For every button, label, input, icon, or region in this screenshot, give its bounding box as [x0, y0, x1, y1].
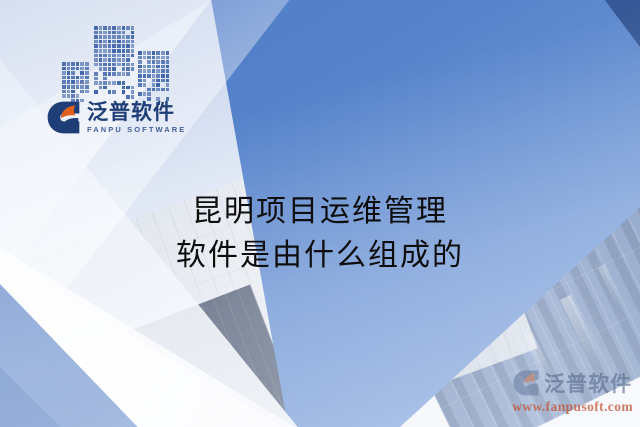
skyline-pixel [108, 54, 112, 58]
skyline-pixel [166, 65, 170, 69]
skyline-pixel [103, 67, 107, 71]
skyline-pixel [62, 62, 66, 66]
skyline-pixel [117, 72, 121, 76]
skyline-pixel [71, 85, 75, 89]
skyline-pixel [143, 56, 147, 60]
skyline-pixel [108, 67, 112, 71]
skyline-pixel [99, 58, 103, 62]
skyline-pixel [94, 63, 98, 67]
skyline-pixel [147, 74, 151, 78]
skyline-pixel [99, 44, 103, 48]
skyline-pixel [131, 35, 135, 39]
skyline-pixel [103, 72, 107, 76]
skyline-pixel [85, 71, 89, 75]
pixel-skyline-icon [62, 24, 172, 108]
skyline-pixel [122, 58, 126, 62]
skyline-pixel [108, 58, 112, 62]
skyline-pixel [122, 26, 126, 30]
skyline-pixel [103, 35, 107, 39]
skyline-pixel [156, 74, 160, 78]
skyline-pixel [138, 51, 142, 55]
skyline-pixel [108, 72, 112, 76]
skyline-pixel [152, 60, 156, 64]
skyline-pixel [62, 67, 66, 71]
skyline-pixel [138, 83, 142, 87]
skyline-pixel [166, 60, 170, 64]
skyline-pixel [156, 83, 160, 87]
skyline-pixel [166, 69, 170, 73]
skyline-pixel [138, 74, 142, 78]
skyline-pixel [161, 88, 165, 92]
skyline-pixel [67, 94, 71, 98]
skyline-pixel [99, 26, 103, 30]
skyline-pixel [126, 26, 130, 30]
skyline-pixel [147, 69, 151, 73]
skyline-pixel [117, 31, 121, 35]
fanpu-logo-icon [47, 101, 80, 134]
watermark-lockup: 泛普软件 [513, 368, 632, 398]
skyline-pixel [138, 56, 142, 60]
skyline-pixel [112, 81, 116, 85]
skyline-pixel [143, 79, 147, 83]
skyline-pixel [131, 90, 135, 94]
skyline-pixel [166, 83, 170, 87]
skyline-pixel [108, 26, 112, 30]
skyline-pixel [71, 90, 75, 94]
skyline-pixel [94, 40, 98, 44]
skyline-pixel [131, 31, 135, 35]
watermark-name-cn: 泛普软件 [544, 368, 632, 398]
skyline-pixel [138, 65, 142, 69]
skyline-pixel [122, 44, 126, 48]
skyline-pixel [126, 72, 130, 76]
skyline-pixel [117, 26, 121, 30]
skyline-pixel [94, 31, 98, 35]
skyline-pixel [117, 81, 121, 85]
skyline-pixel [166, 56, 170, 60]
skyline-pixel [143, 83, 147, 87]
skyline-pixel [122, 72, 126, 76]
skyline-pixel [138, 60, 142, 64]
skyline-pixel [152, 88, 156, 92]
skyline-pixel [161, 79, 165, 83]
skyline-pixel [166, 74, 170, 78]
skyline-pixel [76, 94, 80, 98]
headline-line-1: 昆明项目运维管理 [0, 190, 640, 234]
skyline-pixel [131, 40, 135, 44]
skyline-pixel [112, 90, 116, 94]
skyline-pixel [103, 54, 107, 58]
headline-line-2: 软件是由什么组成的 [0, 234, 640, 278]
skyline-pixel [94, 77, 98, 81]
skyline-pixel [156, 56, 160, 60]
skyline-pixel [80, 90, 84, 94]
skyline-pixel [126, 54, 130, 58]
skyline-pixel [67, 67, 71, 71]
skyline-pixel [117, 35, 121, 39]
skyline-pixel [103, 49, 107, 53]
skyline-pixel [76, 62, 80, 66]
headline: 昆明项目运维管理 软件是由什么组成的 [0, 190, 640, 279]
skyline-pixel [166, 88, 170, 92]
skyline-pixel [94, 90, 98, 94]
skyline-pixel [103, 81, 107, 85]
skyline-pixel [156, 51, 160, 55]
skyline-pixel [147, 92, 151, 96]
skyline-pixel [103, 31, 107, 35]
skyline-pixel [147, 60, 151, 64]
skyline-pixel [62, 76, 66, 80]
skyline-pixel [99, 40, 103, 44]
skyline-pixel [161, 51, 165, 55]
skyline-pixel [152, 56, 156, 60]
brand-name-en: FANPU SOFTWARE [87, 126, 186, 134]
skyline-pixel [94, 81, 98, 85]
skyline-pixel [62, 90, 66, 94]
skyline-pixel [147, 56, 151, 60]
skyline-pixel [126, 35, 130, 39]
skyline-pixel [67, 90, 71, 94]
skyline-pixel [67, 85, 71, 89]
skyline-pixel [138, 92, 142, 96]
skyline-pixel [103, 58, 107, 62]
skyline-pixel [122, 63, 126, 67]
skyline-pixel [126, 95, 130, 99]
skyline-pixel [85, 90, 89, 94]
skyline-pixel [143, 69, 147, 73]
skyline-pixel [71, 62, 75, 66]
skyline-pixel [80, 85, 84, 89]
skyline-pixel [122, 49, 126, 53]
skyline-pixel [117, 40, 121, 44]
skyline-pixel [94, 35, 98, 39]
skyline-pixel [108, 44, 112, 48]
skyline-pixel [112, 54, 116, 58]
skyline-pixel [156, 88, 160, 92]
skyline-pixel [85, 67, 89, 71]
skyline-pixel [122, 81, 126, 85]
skyline-pixel [147, 88, 151, 92]
skyline-pixel [152, 69, 156, 73]
skyline-pixel [161, 60, 165, 64]
skyline-pixel [76, 85, 80, 89]
skyline-pixel [112, 63, 116, 67]
skyline-pixel [80, 71, 84, 75]
skyline-pixel [117, 58, 121, 62]
skyline-pixel [112, 31, 116, 35]
skyline-pixel [103, 77, 107, 81]
skyline-pixel [152, 79, 156, 83]
skyline-pixel [103, 26, 107, 30]
skyline-pixel [112, 26, 116, 30]
skyline-pixel [131, 44, 135, 48]
skyline-pixel [131, 54, 135, 58]
skyline-pixel [67, 71, 71, 75]
skyline-pixel [99, 35, 103, 39]
promo-banner: 泛普软件 FANPU SOFTWARE 昆明项目运维管理 软件是由什么组成的 泛… [0, 0, 640, 427]
brand-logo-lockup: 泛普软件 FANPU SOFTWARE [47, 101, 186, 134]
skyline-pixel [67, 76, 71, 80]
skyline-pixel [80, 62, 84, 66]
skyline-pixel [62, 71, 66, 75]
skyline-pixel [122, 54, 126, 58]
skyline-pixel [67, 80, 71, 84]
skyline-pixel [117, 63, 121, 67]
skyline-pixel [161, 56, 165, 60]
skyline-pixel [80, 67, 84, 71]
skyline-pixel [131, 63, 135, 67]
skyline-pixel [156, 65, 160, 69]
skyline-pixel [156, 79, 160, 83]
skyline-pixel [131, 49, 135, 53]
skyline-pixel [99, 86, 103, 90]
skyline-pixel [131, 67, 135, 71]
skyline-pixel [62, 85, 66, 89]
skyline-pixel [122, 90, 126, 94]
skyline-pixel [166, 79, 170, 83]
skyline-pixel [161, 65, 165, 69]
skyline-pixel [76, 76, 80, 80]
watermark: 泛普软件 www.fanpusoft.com [512, 368, 633, 415]
skyline-pixel [94, 72, 98, 76]
skyline-pixel [85, 85, 89, 89]
brand-name-cn: 泛普软件 [87, 102, 186, 123]
skyline-pixel [112, 58, 116, 62]
skyline-pixel [94, 49, 98, 53]
skyline-pixel [112, 67, 116, 71]
skyline-pixel [71, 67, 75, 71]
watermark-url: www.fanpusoft.com [512, 399, 633, 415]
skyline-pixel [71, 94, 75, 98]
skyline-pixel [108, 49, 112, 53]
skyline-pixel [147, 65, 151, 69]
skyline-pixel [122, 31, 126, 35]
skyline-pixel [126, 58, 130, 62]
skyline-pixel [80, 80, 84, 84]
skyline-pixel [108, 63, 112, 67]
skyline-pixel [99, 49, 103, 53]
skyline-pixel [85, 76, 89, 80]
skyline-pixel [161, 69, 165, 73]
skyline-pixel [85, 80, 89, 84]
skyline-pixel [99, 81, 103, 85]
skyline-pixel [94, 58, 98, 62]
skyline-pixel [143, 51, 147, 55]
skyline-pixel [156, 60, 160, 64]
skyline-pixel [108, 40, 112, 44]
skyline-pixel [67, 62, 71, 66]
skyline-pixel [147, 51, 151, 55]
skyline-pixel [122, 86, 126, 90]
skyline-pixel [94, 26, 98, 30]
skyline-pixel [76, 80, 80, 84]
skyline-pixel [126, 40, 130, 44]
skyline-pixel [152, 65, 156, 69]
skyline-pixel [112, 35, 116, 39]
skyline-pixel [103, 86, 107, 90]
skyline-pixel [71, 80, 75, 84]
skyline-pixel [156, 69, 160, 73]
skyline-pixel [126, 44, 130, 48]
skyline-pixel [62, 94, 66, 98]
skyline-pixel [126, 49, 130, 53]
skyline-pixel [62, 80, 66, 84]
skyline-pixel [71, 76, 75, 80]
skyline-pixel [99, 54, 103, 58]
skyline-pixel [112, 40, 116, 44]
skyline-pixel [152, 74, 156, 78]
skyline-pixel [138, 79, 142, 83]
skyline-pixel [161, 74, 165, 78]
skyline-pixel [152, 83, 156, 87]
skyline-pixel [71, 71, 75, 75]
skyline-pixel [143, 92, 147, 96]
skyline-pixel [117, 54, 121, 58]
fanpu-logo-watermark-icon [513, 370, 539, 396]
skyline-pixel [80, 76, 84, 80]
skyline-pixel [85, 62, 89, 66]
skyline-pixel [166, 51, 170, 55]
skyline-pixel [126, 63, 130, 67]
skyline-pixel [112, 72, 116, 76]
skyline-pixel [112, 49, 116, 53]
skyline-pixel [108, 90, 112, 94]
skyline-pixel [143, 74, 147, 78]
skyline-pixel [117, 44, 121, 48]
skyline-pixel [94, 54, 98, 58]
skyline-pixel [122, 35, 126, 39]
skyline-pixel [108, 35, 112, 39]
skyline-pixel [117, 49, 121, 53]
skyline-pixel [103, 63, 107, 67]
skyline-pixel [152, 51, 156, 55]
skyline-pixel [108, 31, 112, 35]
skyline-pixel [103, 40, 107, 44]
brand-text-block: 泛普软件 FANPU SOFTWARE [87, 102, 186, 134]
skyline-pixel [103, 44, 107, 48]
skyline-pixel [108, 81, 112, 85]
skyline-pixel [122, 40, 126, 44]
skyline-pixel [138, 69, 142, 73]
skyline-pixel [112, 44, 116, 48]
skyline-pixel [99, 67, 103, 71]
skyline-pixel [131, 26, 135, 30]
skyline-pixel [76, 67, 80, 71]
skyline-pixel [99, 63, 103, 67]
skyline-pixel [131, 95, 135, 99]
skyline-pixel [94, 44, 98, 48]
skyline-pixel [99, 31, 103, 35]
skyline-pixel [143, 65, 147, 69]
skyline-pixel [131, 86, 135, 90]
skyline-pixel [126, 67, 130, 71]
skyline-pixel [126, 86, 130, 90]
skyline-pixel [122, 67, 126, 71]
